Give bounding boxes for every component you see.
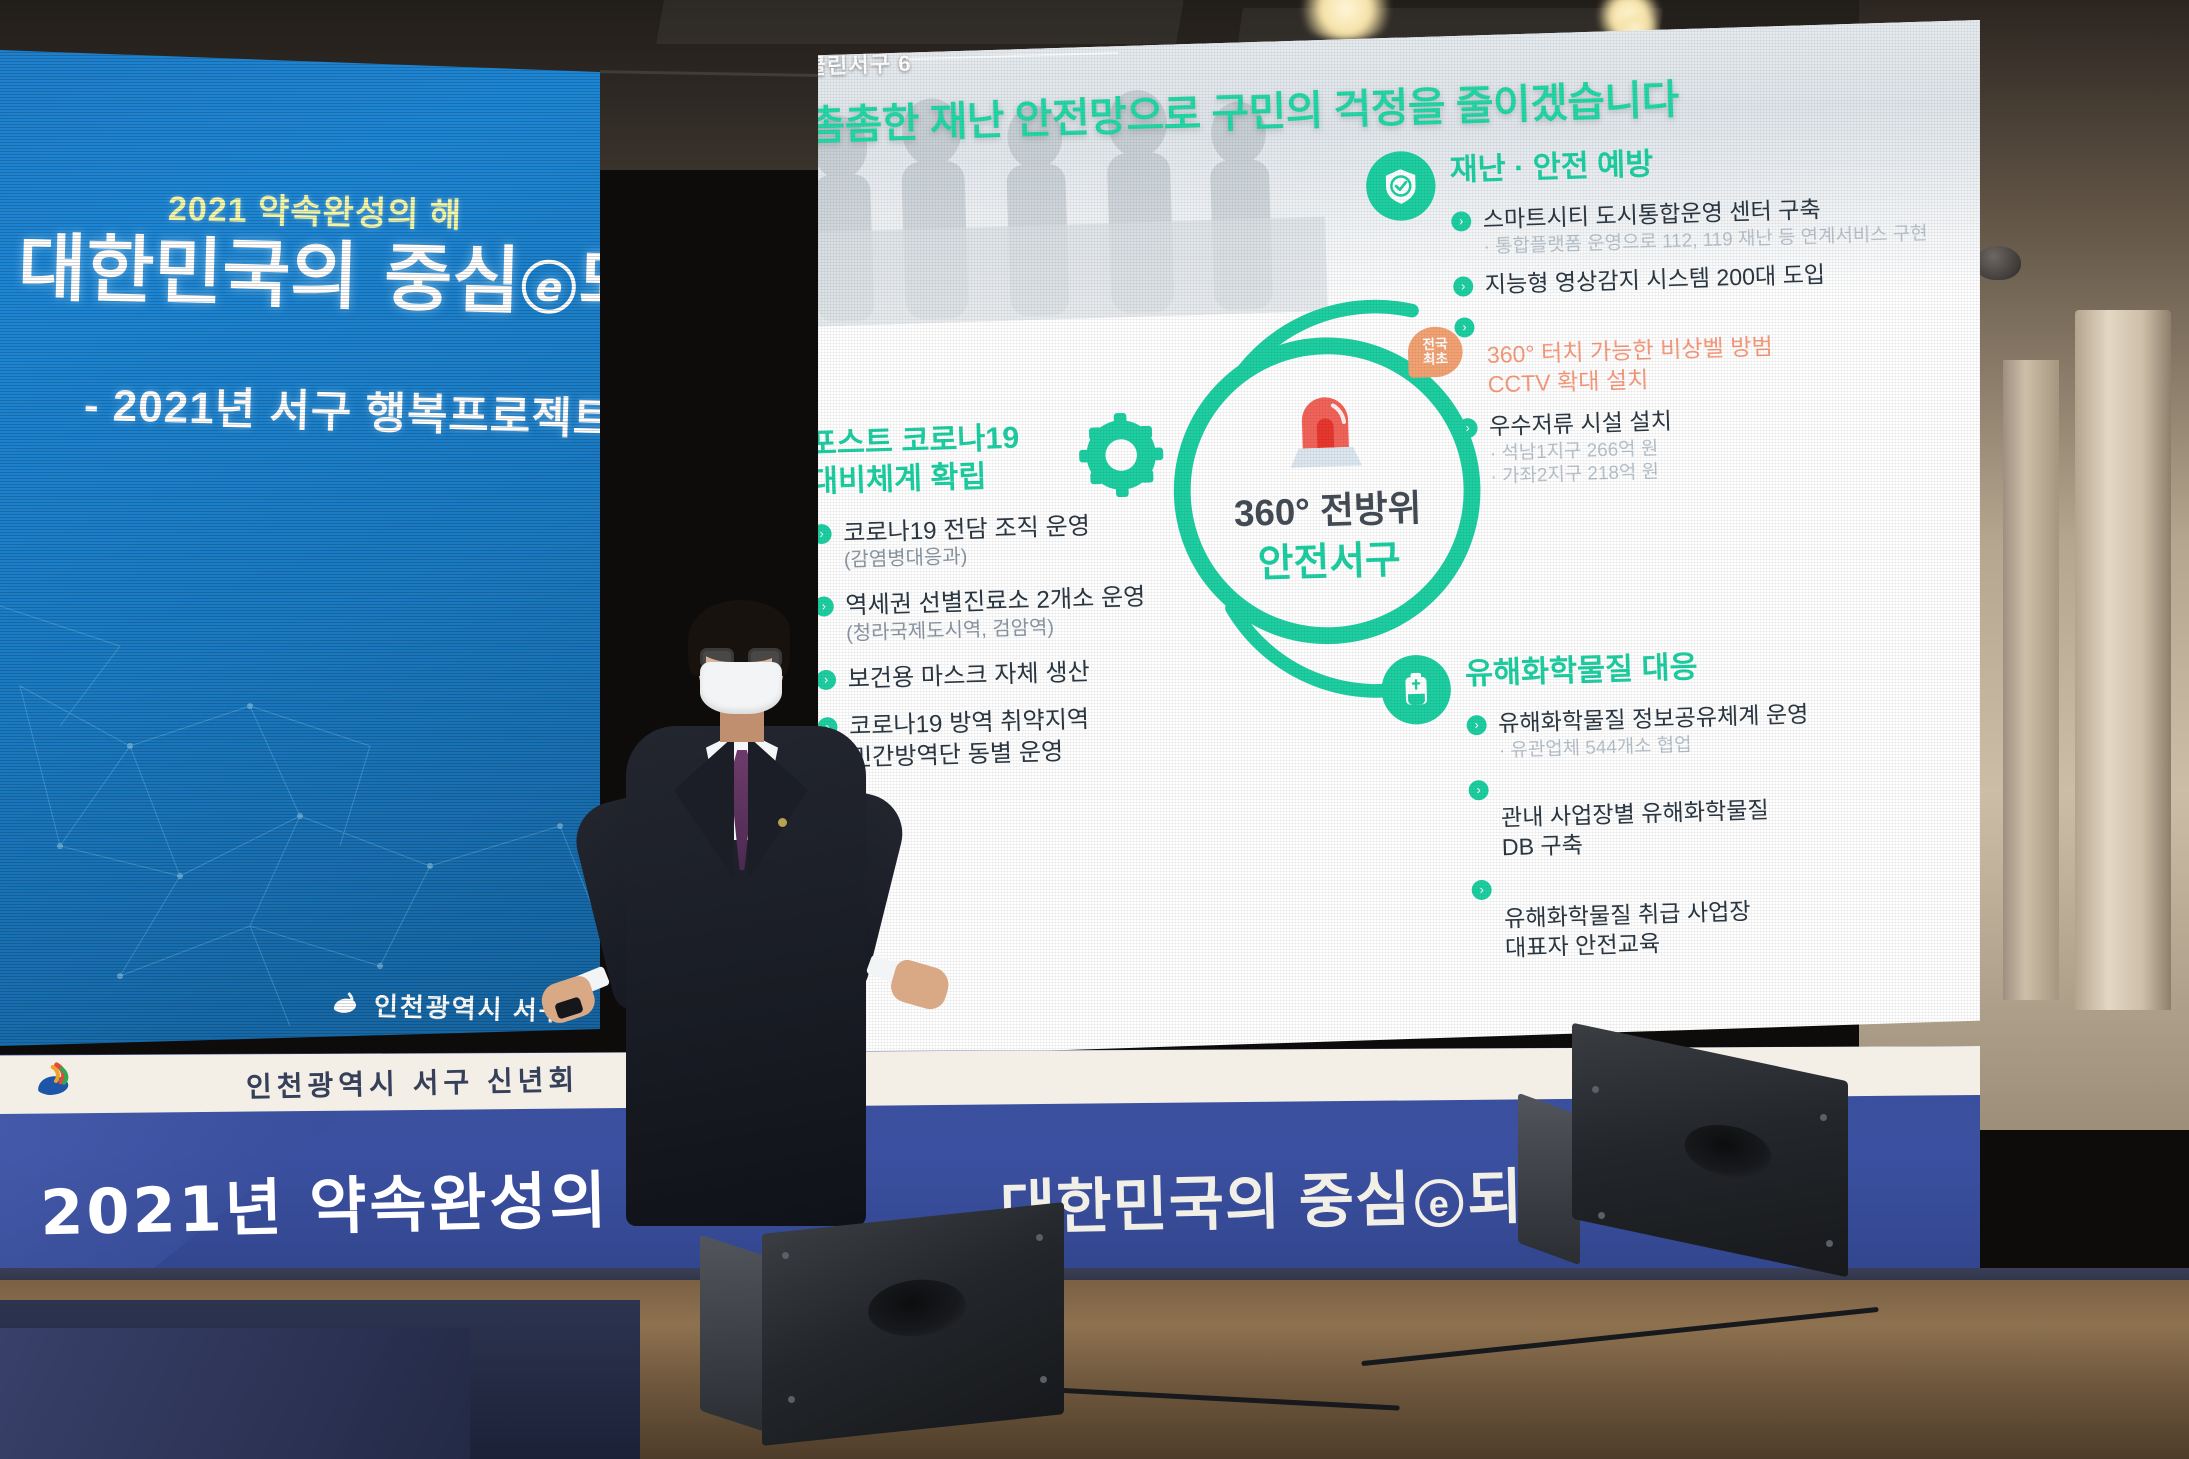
incheon-seogu-logo-icon — [1800, 20, 1832, 28]
wall-pillar — [2075, 310, 2171, 1010]
list-item: › 360° 터치 가능한 비상벨 방범 CCTV 확대 설치 — [1454, 296, 1980, 401]
list-item: › 지능형 영상감지 시스템 200대 도입 — [1453, 255, 1980, 301]
speaker-side-panel — [1518, 1093, 1580, 1266]
column-right-bottom-list: › 유해화학물질 정보공유체계 운영 · 유관업체 544개소 협업 › 관내 … — [1466, 694, 1980, 964]
list-item-text: 지능형 영상감지 시스템 200대 도입 — [1484, 261, 1825, 298]
list-item: › 유해화학물질 정보공유체계 운영 · 유관업체 544개소 협업 — [1466, 694, 1980, 763]
list-item-text: 역세권 선별진료소 2개소 운영 — [845, 583, 1146, 619]
led-headline: 대한민국의 중심e되는 서구 — [17, 230, 599, 324]
column-left-heading: 포스트 코로나19 대비체계 확립 — [818, 415, 1157, 502]
led-left-logo: 인천광역시 서구 — [328, 985, 566, 1029]
list-item-text: 관내 사업장별 유해화학물질 DB 구축 — [1501, 797, 1770, 861]
lapel-pin-icon — [778, 818, 787, 827]
led-headline-emblem-icon: e — [521, 259, 576, 314]
list-item-second-line: 민간방역단 동별 운영 — [850, 733, 1166, 774]
incheon-seogu-logo-icon — [328, 986, 363, 1021]
bullet-arrow-icon: › — [1471, 880, 1492, 901]
stage-monitor-speaker — [1518, 1052, 1858, 1282]
list-item-text-highlighted: 360° 터치 가능한 비상벨 방범 CCTV 확대 설치 — [1486, 333, 1773, 398]
list-item: › 코로나19 전담 조직 운영 (감염병대응과) — [818, 508, 1159, 575]
bullet-arrow-icon: › — [818, 523, 832, 544]
list-item: › 유해화학물질 취급 사업장 대표자 안전교육 — [1471, 859, 1980, 964]
list-item-text: 우수저류 시설 설치 — [1489, 407, 1673, 439]
presenter-person — [600, 608, 890, 1308]
list-item: › 스마트시티 도시통합운영 센터 구축 · 통합플랫폼 운영으로 112, 1… — [1451, 190, 1980, 259]
bullet-arrow-icon: › — [1451, 211, 1472, 232]
presentation-slide: 클린서구 6 인천광역시 서구 촘촘한 재난 안전망으로 구민의 걱정을 줄이겠… — [818, 20, 1980, 1058]
ceiling-dome-camera — [1975, 246, 2021, 280]
slide-column-right-bottom: 유해화학물질 대응 › 유해화학물질 정보공유체계 운영 · 유관업체 544개… — [1465, 639, 1980, 975]
list-item-text: 코로나19 전담 조직 운영 — [843, 511, 1091, 546]
speaker-side-panel — [700, 1235, 770, 1434]
stage-monitor-speaker — [700, 1218, 1080, 1440]
bullet-arrow-icon: › — [1457, 417, 1478, 438]
incheon-seogu-logo-icon — [30, 1059, 79, 1104]
center-ring-label-secondary: 안전서구 — [1175, 525, 1483, 591]
bullet-arrow-icon: › — [1453, 276, 1474, 297]
column-right-top-list: › 스마트시티 도시통합운영 센터 구축 · 통합플랫폼 운영으로 112, 1… — [1451, 190, 1980, 489]
list-item: › 우수저류 시설 설치 · 석남1지구 266억 원 · 가좌2지구 218억… — [1457, 396, 1980, 489]
banner-event-title: 인천광역시 서구 신년회 — [246, 1058, 580, 1106]
stage-scene: 2021 약속완성의 해 대한민국의 중심e되는 서구 - 2021년 서구 행… — [0, 0, 2189, 1459]
list-item-text: 유해화학물질 취급 사업장 대표자 안전교육 — [1504, 898, 1751, 961]
banner-emblem-icon: e — [1415, 1179, 1464, 1228]
led-left-logo-text: 인천광역시 서구 — [374, 986, 566, 1028]
wall-pillar — [2003, 360, 2059, 1000]
siren-icon — [1286, 386, 1364, 476]
led-left-panel: 2021 약속완성의 해 대한민국의 중심e되는 서구 - 2021년 서구 행… — [0, 46, 600, 1046]
led-headline-part2: 되는 서구 — [577, 241, 600, 335]
face-mask-icon — [700, 662, 782, 714]
bullet-arrow-icon: › — [1466, 715, 1487, 736]
led-headline-part1: 대한민국의 중심 — [17, 225, 522, 325]
floor-carpet-inner — [0, 1328, 470, 1459]
bullet-arrow-icon: › — [1468, 780, 1489, 801]
list-item: › 관내 사업장별 유해화학물질 DB 구축 — [1468, 759, 1980, 864]
led-video-wall: 2021 약속완성의 해 대한민국의 중심e되는 서구 - 2021년 서구 행… — [0, 20, 1980, 1060]
slide-column-right-top: 재난 · 안전 예방 › 스마트시티 도시통합운영 센터 구축 · 통합플랫폼 … — [1449, 136, 1980, 501]
slide-tag: 클린서구 6 — [818, 47, 912, 82]
bullet-arrow-icon: › — [1454, 317, 1475, 338]
